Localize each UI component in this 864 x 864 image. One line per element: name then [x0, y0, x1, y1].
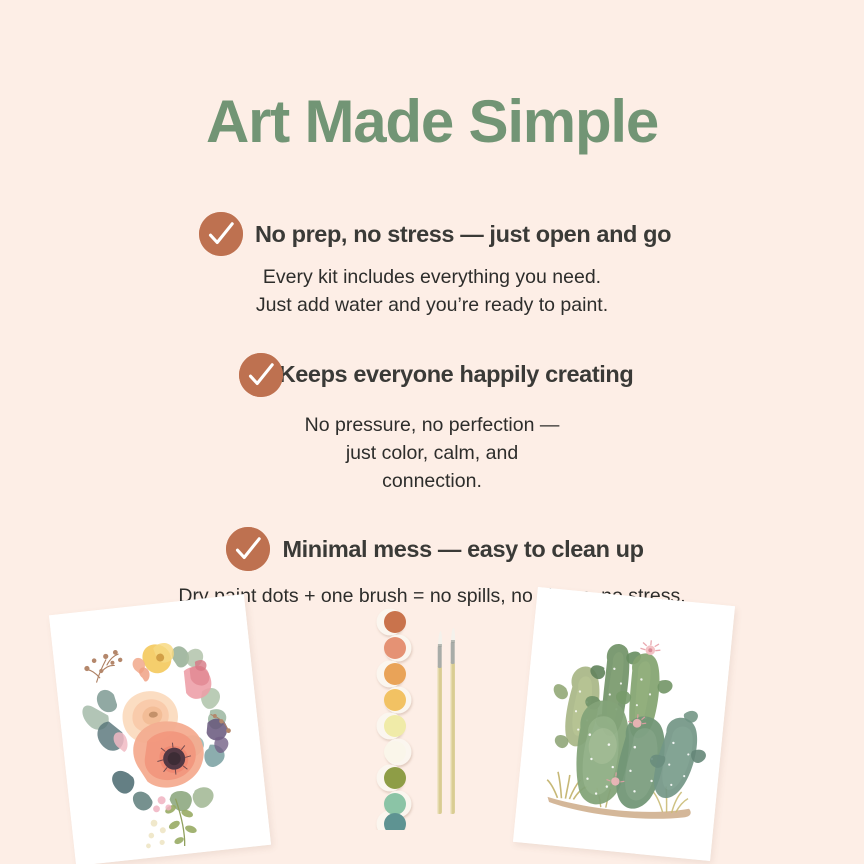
watercolor-floral-bouquet-card [49, 594, 271, 864]
paint-dot-strip [372, 608, 418, 830]
feature-title: Minimal mess — easy to clean up [282, 536, 643, 563]
feature-body-line: Every kit includes everything you need. [0, 263, 864, 291]
watercolor-cactus-card [513, 587, 735, 861]
poster-canvas: Art Made Simple No prep, no stress — jus… [0, 0, 864, 864]
feature-body-line: Just add water and you’re ready to paint… [0, 291, 864, 319]
check-circle-icon [239, 353, 283, 397]
check-circle-icon [199, 212, 243, 256]
check-circle-icon [226, 527, 270, 571]
paint-dots [384, 611, 406, 830]
feature-body-line: connection. [0, 467, 864, 495]
feature-heading-row: No prep, no stress — just open and go [0, 212, 864, 256]
artwork-row [0, 580, 864, 864]
feature-title: Keeps everyone happily creating [279, 361, 634, 388]
feature-item: No prep, no stress — just open and go Ev… [0, 212, 864, 320]
feature-body-line: No pressure, no perfection — [0, 411, 864, 439]
page-title: Art Made Simple [0, 92, 864, 152]
feature-item: Keeps everyone happily creating No press… [0, 353, 864, 496]
feature-body: Every kit includes everything you need. … [0, 263, 864, 320]
feature-body: No pressure, no perfection — just color,… [0, 411, 864, 496]
paint-brush [451, 628, 456, 814]
paint-brush-pair [432, 628, 470, 818]
feature-heading-row: Keeps everyone happily creating [0, 353, 864, 397]
feature-body-line: just color, calm, and [0, 439, 864, 467]
feature-list: No prep, no stress — just open and go Ev… [0, 212, 864, 611]
feature-heading-row: Minimal mess — easy to clean up [0, 527, 864, 571]
feature-title: No prep, no stress — just open and go [255, 221, 671, 248]
paint-brush [438, 631, 443, 814]
